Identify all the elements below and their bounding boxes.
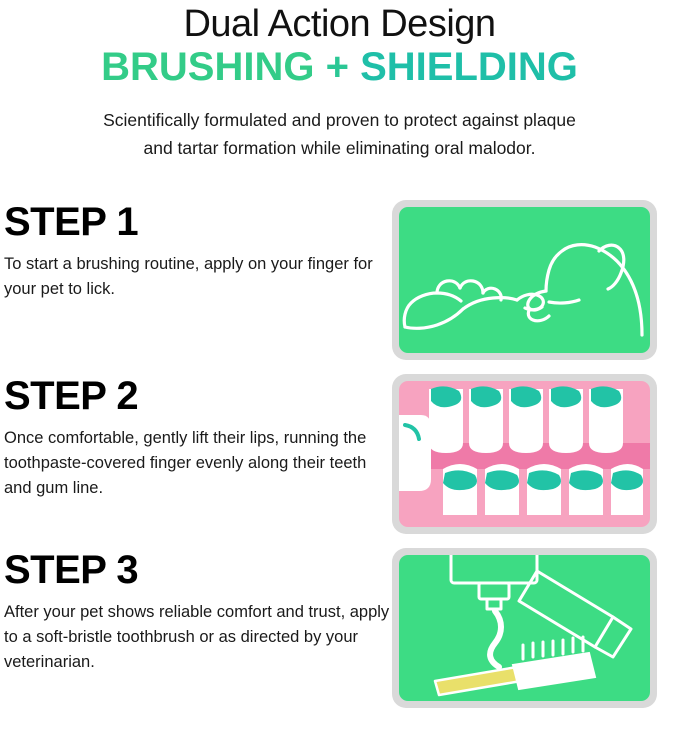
step-3-text: STEP 3 After your pet shows reliable com…	[0, 548, 392, 675]
step-2-figure	[392, 374, 662, 534]
page-subtitle: BRUSHING + SHIELDING	[0, 44, 679, 90]
step-1-heading: STEP 1	[4, 200, 392, 244]
step-1-text: STEP 1 To start a brushing routine, appl…	[0, 200, 392, 302]
header: Dual Action Design BRUSHING + SHIELDING …	[0, 0, 679, 162]
step-1-card-inner	[399, 207, 650, 353]
product-infographic-page: Dual Action Design BRUSHING + SHIELDING …	[0, 0, 679, 752]
subtitle-part-shielding: SHIELDING	[360, 45, 578, 89]
page-title: Dual Action Design	[0, 2, 679, 46]
step-3-heading: STEP 3	[4, 548, 392, 592]
step-3-body: After your pet shows reliable comfort an…	[4, 600, 392, 675]
intro-line-1: Scientifically formulated and proven to …	[20, 106, 660, 134]
step-2-text: STEP 2 Once comfortable, gently lift the…	[0, 374, 392, 501]
step-3-card	[392, 548, 657, 708]
step-3-figure	[392, 548, 662, 708]
step-2-body: Once comfortable, gently lift their lips…	[4, 426, 392, 501]
steps-list: STEP 1 To start a brushing routine, appl…	[0, 200, 679, 708]
intro-paragraph: Scientifically formulated and proven to …	[20, 106, 660, 162]
step-item: STEP 1 To start a brushing routine, appl…	[0, 200, 679, 360]
step-1-card	[392, 200, 657, 360]
subtitle-plus-sign: +	[326, 45, 349, 89]
subtitle-part-brushing: BRUSHING	[101, 45, 314, 89]
finger-with-paste-and-dog-icon	[399, 207, 650, 353]
step-2-heading: STEP 2	[4, 374, 392, 418]
step-2-card-inner	[399, 381, 650, 527]
toothbrush-with-paste-tube-icon	[399, 555, 650, 701]
step-1-figure	[392, 200, 662, 360]
step-item: STEP 2 Once comfortable, gently lift the…	[0, 374, 679, 534]
finger-brushing-teeth-icon	[399, 381, 650, 527]
step-item: STEP 3 After your pet shows reliable com…	[0, 548, 679, 708]
intro-line-2: and tartar formation while eliminating o…	[20, 134, 660, 162]
step-1-body: To start a brushing routine, apply on yo…	[4, 252, 392, 302]
step-2-card	[392, 374, 657, 534]
step-3-card-inner	[399, 555, 650, 701]
